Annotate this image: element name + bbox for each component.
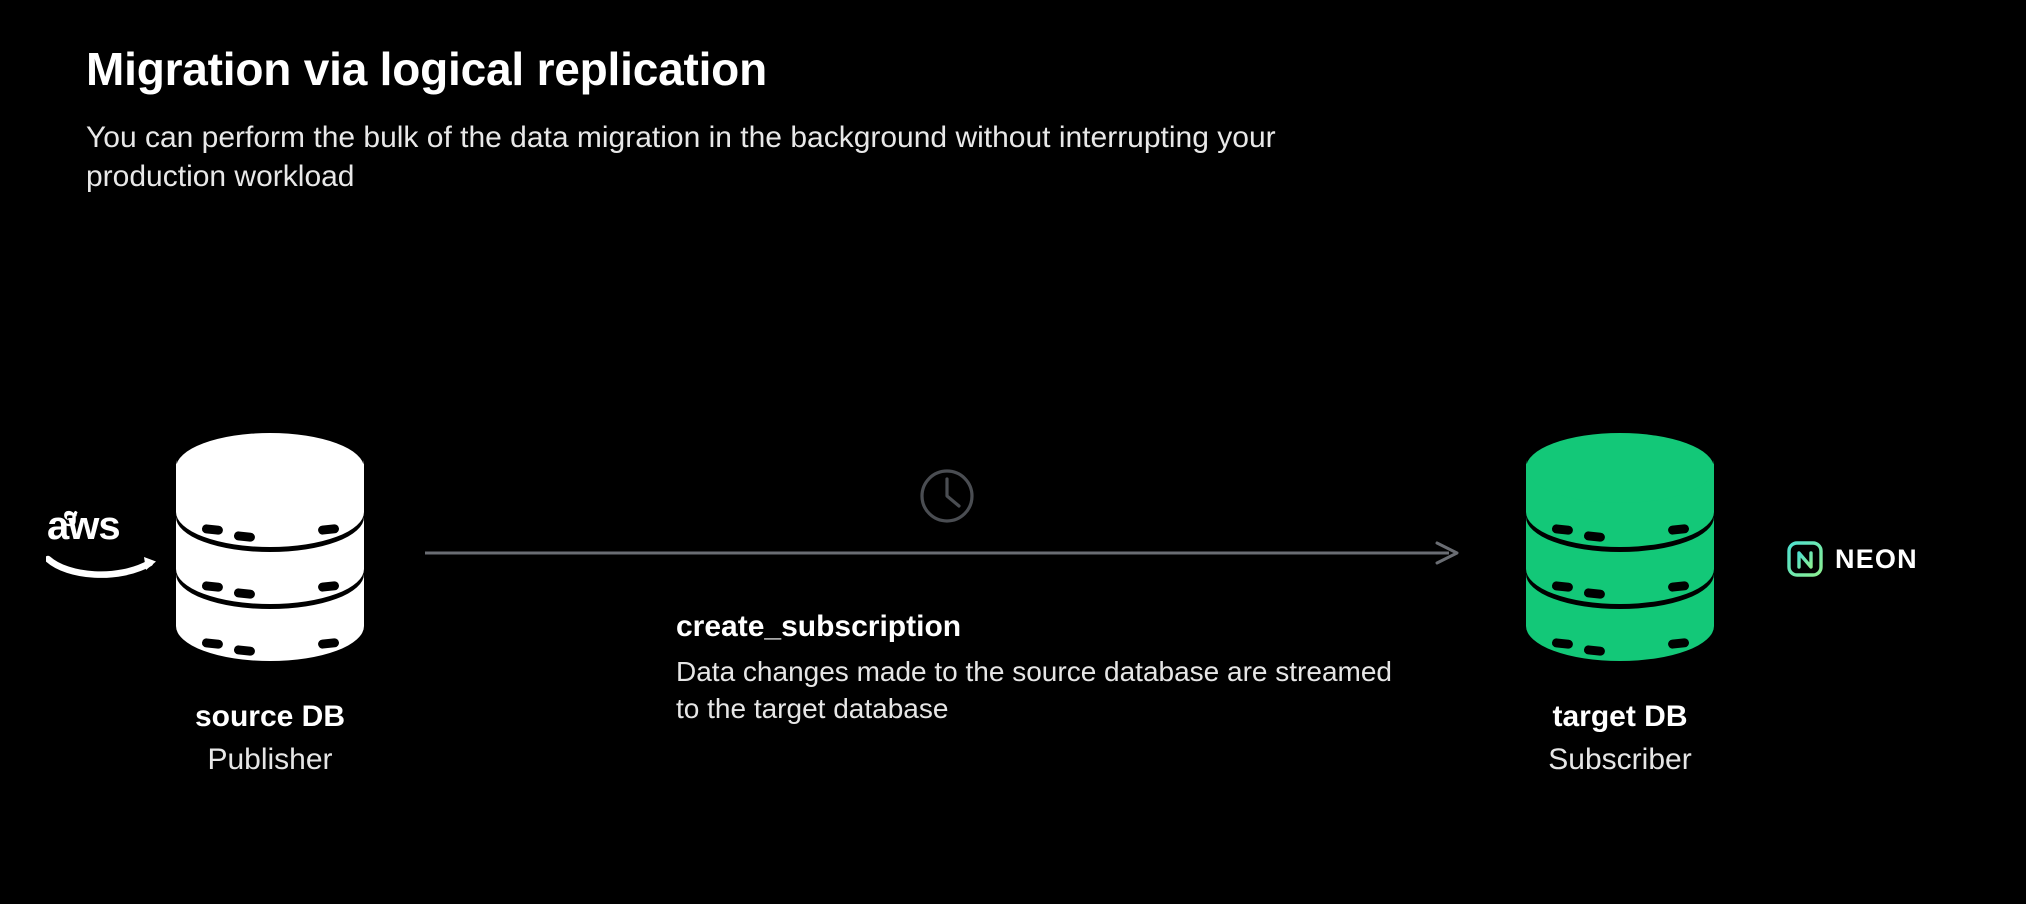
database-cylinder-icon (172, 432, 368, 672)
neon-logo: NEON (1786, 540, 1918, 578)
target-db-node: target DB Subscriber (1470, 432, 1770, 779)
flow-caption: create_subscription Data changes made to… (676, 608, 1396, 727)
neon-mark-icon (1786, 540, 1824, 578)
target-db-title: target DB (1470, 698, 1770, 736)
slide-root: Migration via logical replication You ca… (0, 0, 2026, 904)
source-db-labels: source DB Publisher (120, 698, 420, 779)
neon-wordmark: NEON (1835, 546, 1918, 573)
source-db-title: source DB (120, 698, 420, 736)
diagram-stage: aws (0, 0, 2026, 904)
source-db-node: source DB Publisher (120, 432, 420, 779)
clock-icon (916, 465, 978, 527)
source-db-subtitle: Publisher (120, 740, 420, 779)
flow-caption-title: create_subscription (676, 608, 1396, 646)
database-cylinder-icon (1522, 432, 1718, 672)
target-db-subtitle: Subscriber (1470, 740, 1770, 779)
arrow-right-icon (425, 540, 1465, 566)
svg-text:aws: aws (47, 505, 120, 548)
flow-caption-body: Data changes made to the source database… (676, 653, 1396, 727)
target-db-labels: target DB Subscriber (1470, 698, 1770, 779)
